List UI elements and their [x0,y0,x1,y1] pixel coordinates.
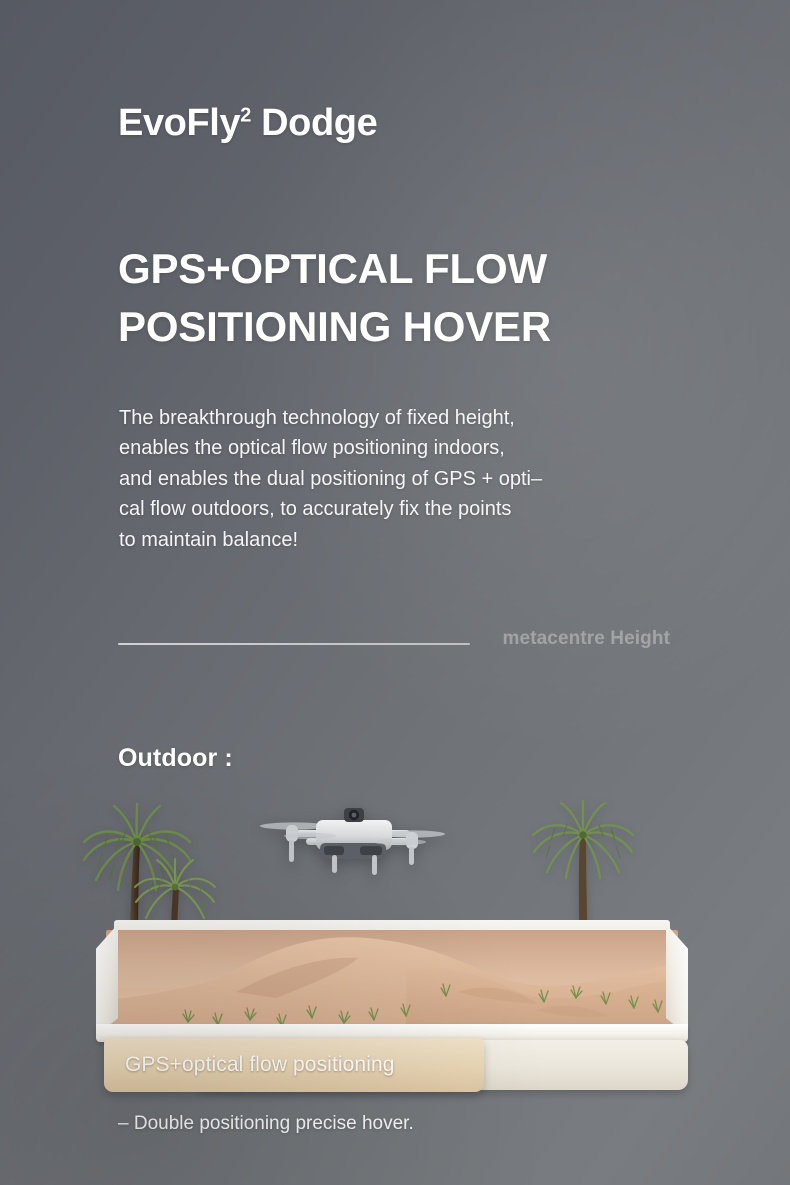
metacentre-height-label: metacentre Height [503,628,670,650]
tray-rim-right [666,924,688,1036]
footnote-text: – Double positioning precise hover. [118,1113,414,1135]
product-brand-title: EvoFly2 Dodge [118,102,377,145]
tray-rim-left [96,924,118,1036]
brand-name: EvoFly [118,102,240,144]
status-badge-label: GPS+optical flow positioning [104,1053,395,1077]
product-feature-page: EvoFly2 Dodge GPS+OPTICAL FLOW POSITIONI… [0,0,790,1185]
sand-surface [106,930,678,1032]
description-line-1: The breakthrough technology of fixed hei… [119,403,694,433]
description-line-3: and enables the dual positioning of GPS … [119,464,694,494]
dune-shapes [106,930,678,1032]
description-line-4: cal flow outdoors, to accurately fix the… [119,494,694,524]
quadcopter-drone-icon [240,798,460,884]
brand-model: Dodge [261,102,377,144]
shelf-caption-bar: GPS+optical flow positioning [104,1038,688,1092]
metacentre-divider-row: metacentre Height [118,628,670,660]
sand-dune-diorama-icon [96,920,688,1042]
status-badge: GPS+optical flow positioning [104,1038,484,1092]
headline-line-2: POSITIONING HOVER [118,298,551,356]
description-paragraph: The breakthrough technology of fixed hei… [119,403,694,555]
page-title: GPS+OPTICAL FLOW POSITIONING HOVER [118,240,551,356]
divider-line [118,643,470,645]
section-label-outdoor: Outdoor : [118,744,233,773]
description-line-5: to maintain balance! [119,525,694,555]
description-line-2: enables the optical flow positioning ind… [119,433,694,463]
headline-line-1: GPS+OPTICAL FLOW [118,240,551,298]
brand-superscript: 2 [240,104,251,126]
